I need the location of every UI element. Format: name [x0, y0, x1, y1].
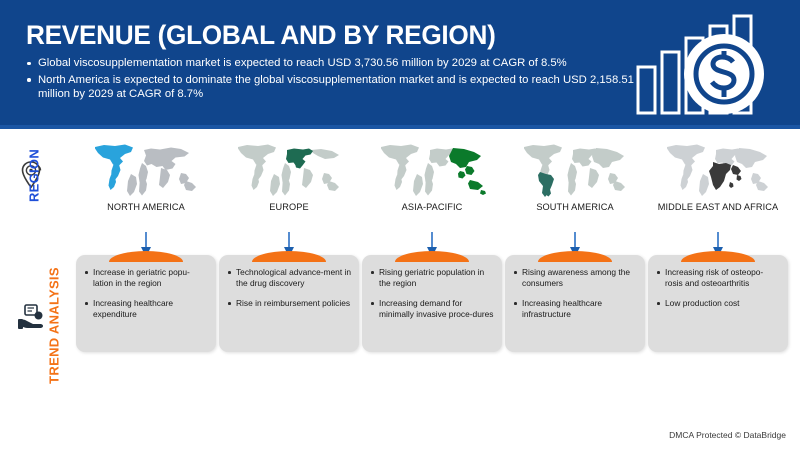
- region-column-south-america: SOUTH AMERICA: [505, 140, 645, 213]
- trend-item: Rise in reimbursement policies: [227, 298, 351, 309]
- region-column-asia-pacific: ASIA-PACIFIC: [362, 140, 502, 213]
- hand-chart-icon: [16, 303, 48, 333]
- page-title: REVENUE (GLOBAL AND BY REGION): [26, 20, 496, 51]
- world-map-south-america-highlight-icon: [517, 140, 633, 198]
- world-map-europe-highlight-icon: [231, 140, 347, 198]
- trend-item: Increase in geriatric popu-lation in the…: [84, 267, 208, 289]
- trend-card-north-america: Increase in geriatric popu-lation in the…: [76, 255, 216, 352]
- trend-card-south-america: Rising awareness among the consumers Inc…: [505, 255, 645, 352]
- region-label: EUROPE: [219, 202, 359, 213]
- bar-chart-dollar-icon: [632, 12, 782, 120]
- rail-label-trend-analysis: TREND ANALYSIS: [47, 261, 62, 391]
- header-banner: REVENUE (GLOBAL AND BY REGION) Global vi…: [0, 0, 800, 125]
- trend-item: Rising geriatric population in the regio…: [370, 267, 494, 289]
- region-column-europe: EUROPE: [219, 140, 359, 213]
- world-map-asia-pacific-highlight-icon: [374, 140, 490, 198]
- region-label: NORTH AMERICA: [76, 202, 216, 213]
- region-label: MIDDLE EAST AND AFRICA: [648, 202, 788, 213]
- rail-label-region: REGION: [27, 134, 42, 218]
- trend-card-europe: Technological advance-ment in the drug d…: [219, 255, 359, 352]
- header-bullet: Global viscosupplementation market is ex…: [26, 56, 641, 71]
- trend-item: Increasing healthcare expenditure: [84, 298, 208, 320]
- trend-item: Rising awareness among the consumers: [513, 267, 637, 289]
- trend-list: Rising awareness among the consumers Inc…: [505, 255, 645, 320]
- header-bullet-list: Global viscosupplementation market is ex…: [26, 56, 641, 104]
- trend-item: Technological advance-ment in the drug d…: [227, 267, 351, 289]
- trend-item: Increasing demand for minimally invasive…: [370, 298, 494, 320]
- region-column-middle-east-and-africa: MIDDLE EAST AND AFRICA: [648, 140, 788, 213]
- region-label: ASIA-PACIFIC: [362, 202, 502, 213]
- world-map-middle-east-africa-highlight-icon: [660, 140, 776, 198]
- footer-copyright: DMCA Protected © DataBridge: [669, 430, 786, 440]
- trend-list: Technological advance-ment in the drug d…: [219, 255, 359, 309]
- header-divider: [0, 125, 800, 129]
- region-column-north-america: NORTH AMERICA: [76, 140, 216, 213]
- trend-list: Rising geriatric population in the regio…: [362, 255, 502, 320]
- trend-card-middle-east-and-africa: Increasing risk of osteopo-rosis and ost…: [648, 255, 788, 352]
- trend-item: Increasing healthcare infrastructure: [513, 298, 637, 320]
- trend-list: Increasing risk of osteopo-rosis and ost…: [648, 255, 788, 309]
- trend-item: Low production cost: [656, 298, 780, 309]
- trend-list: Increase in geriatric popu-lation in the…: [76, 255, 216, 320]
- trend-item: Increasing risk of osteopo-rosis and ost…: [656, 267, 780, 289]
- region-label: SOUTH AMERICA: [505, 202, 645, 213]
- world-map-north-america-highlight-icon: [88, 140, 204, 198]
- trend-card-asia-pacific: Rising geriatric population in the regio…: [362, 255, 502, 352]
- header-bullet: North America is expected to dominate th…: [26, 73, 641, 102]
